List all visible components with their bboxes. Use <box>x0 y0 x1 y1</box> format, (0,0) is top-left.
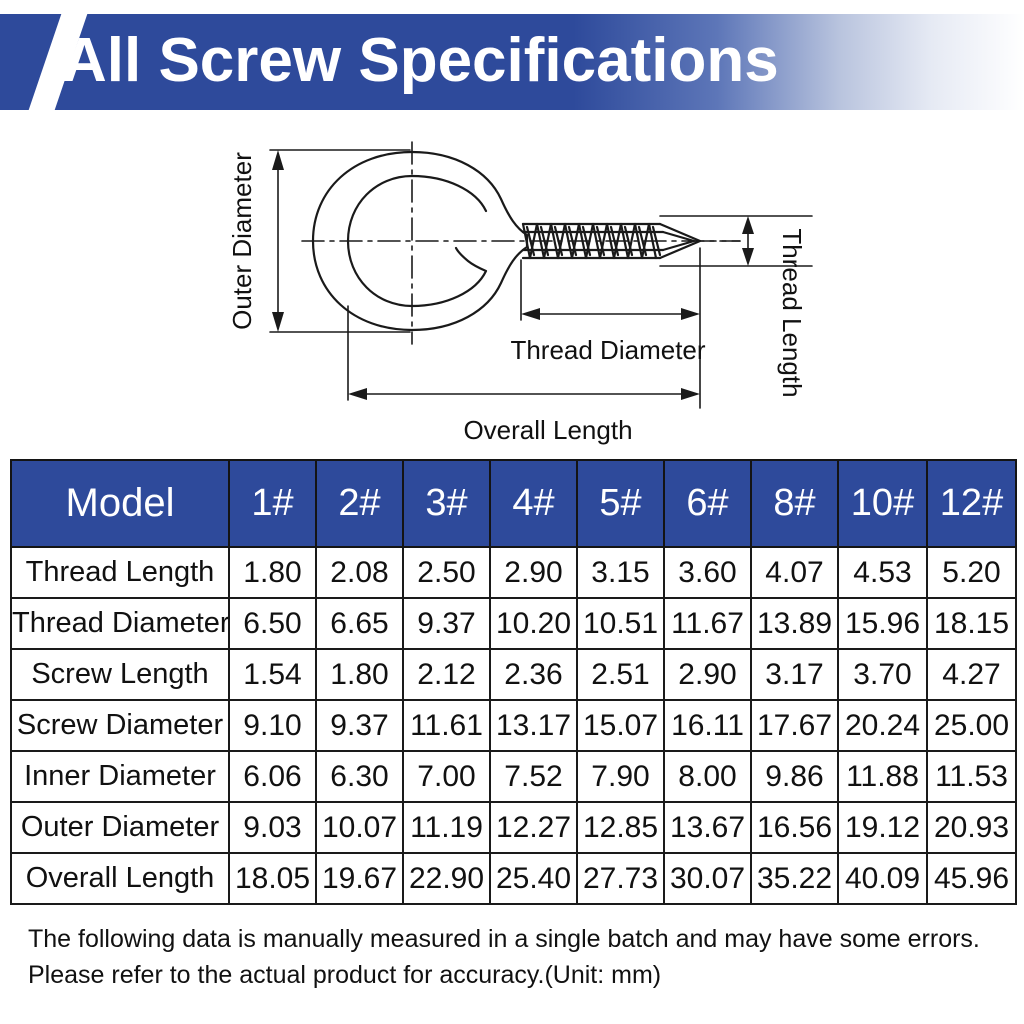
column-header-12hash: 12# <box>927 460 1016 547</box>
table-cell: 10.20 <box>490 598 577 649</box>
column-header-5hash: 5# <box>577 460 664 547</box>
table-row: Screw Length1.541.802.122.362.512.903.17… <box>11 649 1016 700</box>
table-cell: 11.53 <box>927 751 1016 802</box>
row-label-screw-length: Screw Length <box>11 649 229 700</box>
table-cell: 4.53 <box>838 547 927 598</box>
screw-dimension-diagram: Outer Diameter Thread Length Thread Diam… <box>0 128 1024 458</box>
table-cell: 9.37 <box>403 598 490 649</box>
table-cell: 4.27 <box>927 649 1016 700</box>
column-header-3hash: 3# <box>403 460 490 547</box>
table-cell: 45.96 <box>927 853 1016 904</box>
table-cell: 30.07 <box>664 853 751 904</box>
column-header-1hash: 1# <box>229 460 316 547</box>
disclaimer-line-1: The following data is manually measured … <box>28 922 1013 958</box>
row-label-thread-diameter: Thread Diameter <box>11 598 229 649</box>
table-cell: 11.19 <box>403 802 490 853</box>
table-cell: 15.96 <box>838 598 927 649</box>
table-cell: 2.12 <box>403 649 490 700</box>
table-cell: 1.80 <box>229 547 316 598</box>
column-header-model: Model <box>11 460 229 547</box>
row-label-outer-diameter: Outer Diameter <box>11 802 229 853</box>
table-cell: 13.89 <box>751 598 838 649</box>
table-row: Outer Diameter9.0310.0711.1912.2712.8513… <box>11 802 1016 853</box>
table-cell: 2.51 <box>577 649 664 700</box>
table-cell: 12.27 <box>490 802 577 853</box>
table-row: Overall Length18.0519.6722.9025.4027.733… <box>11 853 1016 904</box>
table-cell: 3.15 <box>577 547 664 598</box>
table-cell: 10.07 <box>316 802 403 853</box>
table-cell: 6.06 <box>229 751 316 802</box>
table-cell: 3.60 <box>664 547 751 598</box>
specifications-table: Model1#2#3#4#5#6#8#10#12# Thread Length1… <box>10 459 1017 905</box>
table-header-row: Model1#2#3#4#5#6#8#10#12# <box>11 460 1016 547</box>
table-cell: 16.56 <box>751 802 838 853</box>
table-cell: 2.90 <box>664 649 751 700</box>
table-cell: 7.90 <box>577 751 664 802</box>
table-row: Screw Diameter9.109.3711.6113.1715.0716.… <box>11 700 1016 751</box>
diagram-svg: Outer Diameter Thread Length Thread Diam… <box>0 128 1024 458</box>
table-cell: 11.61 <box>403 700 490 751</box>
table-cell: 9.10 <box>229 700 316 751</box>
table-cell: 25.40 <box>490 853 577 904</box>
table-cell: 4.07 <box>751 547 838 598</box>
table-row: Thread Diameter6.506.659.3710.2010.5111.… <box>11 598 1016 649</box>
table-cell: 35.22 <box>751 853 838 904</box>
table-cell: 7.52 <box>490 751 577 802</box>
table-cell: 19.67 <box>316 853 403 904</box>
arrowhead-tl-top <box>742 216 754 234</box>
table-header: Model1#2#3#4#5#6#8#10#12# <box>11 460 1016 547</box>
row-label-thread-length: Thread Length <box>11 547 229 598</box>
table-cell: 5.20 <box>927 547 1016 598</box>
row-label-overall-length: Overall Length <box>11 853 229 904</box>
page-header-banner: All Screw Specifications <box>0 14 1024 110</box>
arrowhead-ol-right <box>681 388 700 400</box>
table-cell: 8.00 <box>664 751 751 802</box>
table-cell: 9.86 <box>751 751 838 802</box>
row-label-inner-diameter: Inner Diameter <box>11 751 229 802</box>
label-thread-length: Thread Length <box>777 228 807 397</box>
table-cell: 1.80 <box>316 649 403 700</box>
table-cell: 17.67 <box>751 700 838 751</box>
table-cell: 11.88 <box>838 751 927 802</box>
table-cell: 22.90 <box>403 853 490 904</box>
table-cell: 3.17 <box>751 649 838 700</box>
table-cell: 6.30 <box>316 751 403 802</box>
table-cell: 2.90 <box>490 547 577 598</box>
table-cell: 7.00 <box>403 751 490 802</box>
table-cell: 18.15 <box>927 598 1016 649</box>
arrowhead-td-right <box>681 308 700 320</box>
table-cell: 1.54 <box>229 649 316 700</box>
row-label-screw-diameter: Screw Diameter <box>11 700 229 751</box>
dimension-thread-diameter <box>521 248 700 408</box>
table-cell: 27.73 <box>577 853 664 904</box>
table-cell: 18.05 <box>229 853 316 904</box>
page-title: All Screw Specifications <box>62 30 779 92</box>
column-header-2hash: 2# <box>316 460 403 547</box>
table-cell: 13.67 <box>664 802 751 853</box>
table-cell: 40.09 <box>838 853 927 904</box>
label-outer-diameter: Outer Diameter <box>227 152 257 330</box>
table-cell: 20.93 <box>927 802 1016 853</box>
arrowhead-od-bottom <box>272 312 284 332</box>
arrowhead-ol-left <box>348 388 367 400</box>
arrowhead-tl-bottom <box>742 248 754 266</box>
table-cell: 25.00 <box>927 700 1016 751</box>
table-cell: 3.70 <box>838 649 927 700</box>
table-cell: 9.37 <box>316 700 403 751</box>
table-row: Inner Diameter6.066.307.007.527.908.009.… <box>11 751 1016 802</box>
table-cell: 2.08 <box>316 547 403 598</box>
table-row: Thread Length1.802.082.502.903.153.604.0… <box>11 547 1016 598</box>
label-thread-diameter: Thread Diameter <box>510 335 705 365</box>
column-header-4hash: 4# <box>490 460 577 547</box>
table-cell: 2.50 <box>403 547 490 598</box>
table-cell: 20.24 <box>838 700 927 751</box>
measurement-disclaimer: The following data is manually measured … <box>28 922 1013 993</box>
arrowhead-od-top <box>272 150 284 170</box>
column-header-10hash: 10# <box>838 460 927 547</box>
column-header-8hash: 8# <box>751 460 838 547</box>
specifications-table-container: Model1#2#3#4#5#6#8#10#12# Thread Length1… <box>10 459 1013 905</box>
table-cell: 15.07 <box>577 700 664 751</box>
table-cell: 9.03 <box>229 802 316 853</box>
table-cell: 6.50 <box>229 598 316 649</box>
table-body: Thread Length1.802.082.502.903.153.604.0… <box>11 547 1016 904</box>
disclaimer-line-2: Please refer to the actual product for a… <box>28 958 1013 994</box>
arrowhead-td-left <box>521 308 540 320</box>
table-cell: 12.85 <box>577 802 664 853</box>
column-header-6hash: 6# <box>664 460 751 547</box>
table-cell: 6.65 <box>316 598 403 649</box>
table-cell: 10.51 <box>577 598 664 649</box>
table-cell: 16.11 <box>664 700 751 751</box>
table-cell: 2.36 <box>490 649 577 700</box>
label-overall-length: Overall Length <box>463 415 632 445</box>
table-cell: 11.67 <box>664 598 751 649</box>
table-cell: 13.17 <box>490 700 577 751</box>
table-cell: 19.12 <box>838 802 927 853</box>
